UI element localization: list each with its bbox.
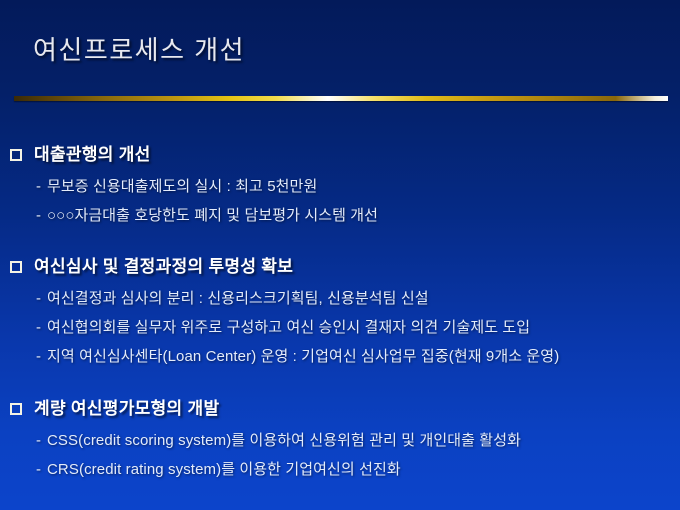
dash-marker: - (36, 318, 47, 338)
square-bullet-icon (10, 261, 22, 273)
list-item-label: CSS(credit scoring system)를 이용하여 신용위험 관리… (47, 432, 521, 449)
list-item-label: 무보증 신용대출제도의 실시 : 최고 5천만원 (47, 178, 317, 195)
list-item-label: 여신협의회를 실무자 위주로 구성하고 여신 승인시 결재자 의견 기술제도 도… (47, 319, 530, 336)
dash-marker: - (36, 347, 47, 367)
section-heading-label: 대출관행의 개선 (34, 143, 151, 167)
list-item: -CSS(credit scoring system)를 이용하여 신용위험 관… (36, 431, 680, 451)
list-item-label: 여신결정과 심사의 분리 : 신용리스크기획팀, 신용분석팀 신설 (47, 290, 429, 307)
slide-title-area: 여신프로세스 개선 (0, 30, 680, 90)
bullet-section: 대출관행의 개선 -무보증 신용대출제도의 실시 : 최고 5천만원 -○○○자… (0, 143, 680, 171)
square-bullet-icon (10, 149, 22, 161)
section-heading-row: 대출관행의 개선 (0, 143, 680, 171)
square-bullet-icon (10, 403, 22, 415)
section-heading-row: 계량 여신평가모형의 개발 (0, 397, 680, 425)
list-item: -○○○자금대출 호당한도 폐지 및 담보평가 시스템 개선 (36, 206, 680, 226)
bullet-section: 계량 여신평가모형의 개발 -CSS(credit scoring system… (0, 397, 680, 425)
dash-marker: - (36, 431, 47, 451)
list-item-label: ○○○자금대출 호당한도 폐지 및 담보평가 시스템 개선 (47, 207, 378, 224)
bullet-section: 여신심사 및 결정과정의 투명성 확보 -여신결정과 심사의 분리 : 신용리스… (0, 255, 680, 283)
dash-marker: - (36, 460, 47, 480)
page-title: 여신프로세스 개선 (33, 30, 245, 70)
dash-marker: - (36, 177, 47, 197)
dash-marker: - (36, 206, 47, 226)
dash-marker: - (36, 289, 47, 309)
presentation-slide: 여신프로세스 개선 대출관행의 개선 -무보증 신용대출제도의 실시 : 최고 … (0, 0, 680, 510)
list-item: -지역 여신심사센타(Loan Center) 운영 : 기업여신 심사업무 집… (36, 347, 680, 367)
section-heading-row: 여신심사 및 결정과정의 투명성 확보 (0, 255, 680, 283)
gold-divider-rule (14, 96, 668, 101)
list-item-label: 지역 여신심사센타(Loan Center) 운영 : 기업여신 심사업무 집중… (47, 348, 559, 365)
list-item-label: CRS(credit rating system)를 이용한 기업여신의 선진화 (47, 461, 401, 478)
section-heading-label: 계량 여신평가모형의 개발 (34, 397, 219, 421)
list-item: -여신결정과 심사의 분리 : 신용리스크기획팀, 신용분석팀 신설 (36, 289, 680, 309)
list-item: -CRS(credit rating system)를 이용한 기업여신의 선진… (36, 460, 680, 480)
section-heading-label: 여신심사 및 결정과정의 투명성 확보 (34, 255, 293, 279)
list-item: -여신협의회를 실무자 위주로 구성하고 여신 승인시 결재자 의견 기술제도 … (36, 318, 680, 338)
list-item: -무보증 신용대출제도의 실시 : 최고 5천만원 (36, 177, 680, 197)
